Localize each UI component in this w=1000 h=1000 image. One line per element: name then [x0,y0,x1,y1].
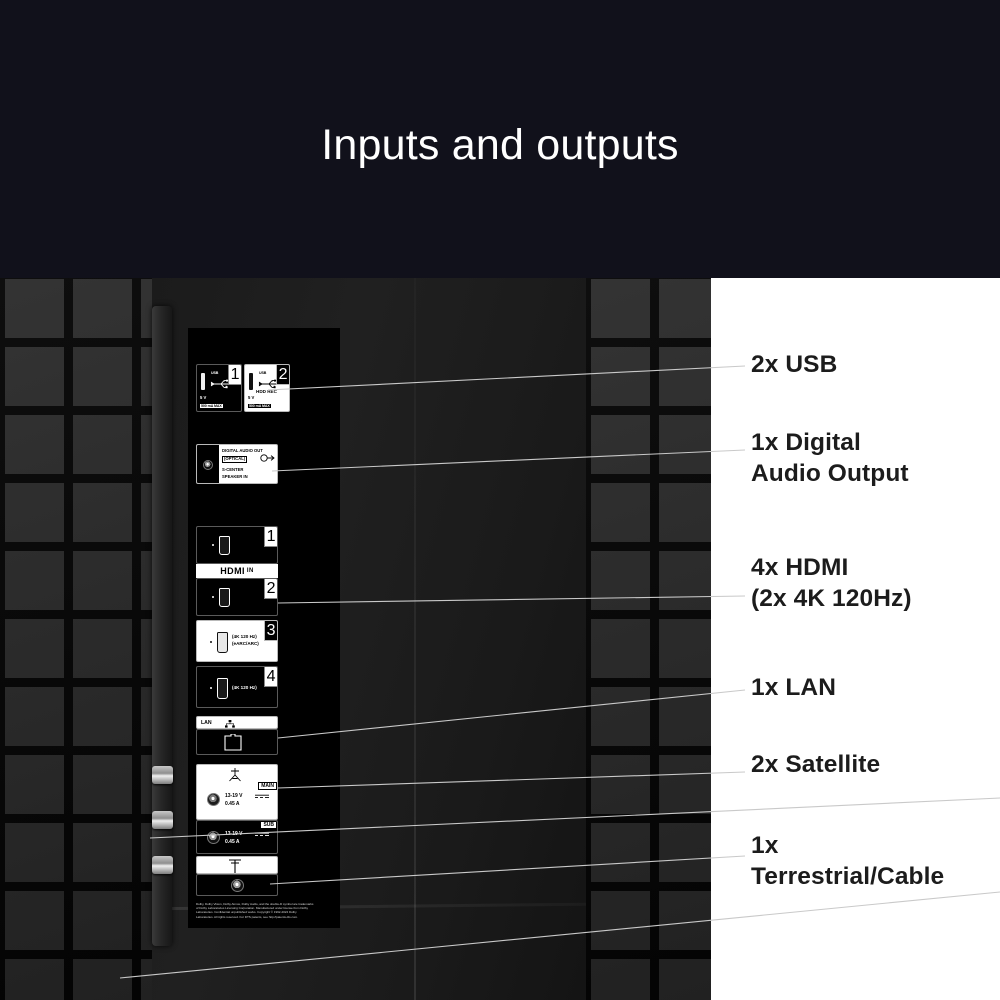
port-hdmi-1[interactable]: 1 [196,526,278,564]
digital-audio-out-label: DIGITAL AUDIO OUT [222,449,263,454]
usb-label: USB [259,371,266,375]
callout-satellite: 2x Satellite [751,750,880,781]
connector-panel: 1 USB 5 V 500 mA MAX 2 USB [188,328,340,928]
hdmi-dot-icon [210,641,212,643]
port-number-badge: 2 [264,579,277,599]
satellite-main-current: 0.45 A [225,801,240,807]
port-terrestrial-cable[interactable] [196,874,278,896]
port-number-badge: 1 [264,527,277,547]
legal-fine-print: Dolby, Dolby Vision, Dolby Atmos, Dolby … [196,902,314,919]
rj45-jack-icon [223,734,243,752]
port-number-badge: 4 [264,667,277,687]
cable-clip-strip [152,306,172,946]
usb-voltage: 5 V [248,396,254,401]
port-hdmi-3[interactable]: 3 (4K 120 Hz) (eARC/ARC) [196,620,278,662]
hdmi-connector-icon [219,536,230,555]
port-digital-audio-out[interactable]: DIGITAL AUDIO OUT (OPTICAL) S-CENTER SPE… [196,444,278,484]
tv-back-grid-left [0,278,152,1000]
network-icon [225,720,235,728]
hdmi-connector-icon [219,588,230,607]
callout-lan: 1x LAN [751,673,836,704]
callout-usb: 2x USB [751,350,837,381]
callout-terrestrial: 1x Terrestrial/Cable [751,831,944,892]
cable-clip [152,856,173,874]
usb-voltage: 5 V [200,396,206,401]
usb-current: 500 mA MAX [200,404,223,408]
optical-jack [203,460,213,470]
hdmi-connector-icon [217,678,228,699]
page-root: Inputs and outputs 1 USB [0,0,1000,1000]
usb-slot-icon [201,373,205,390]
page-title: Inputs and outputs [321,121,678,170]
tv-back-grid-right [586,278,712,1000]
callout-hdmi: 4x HDMI (2x 4K 120Hz) [751,553,912,614]
satellite-main-tag: MAIN [258,782,277,790]
tv-back-photo: 1 USB 5 V 500 mA MAX 2 USB [0,278,1000,1000]
hdmi-dot-icon [212,596,214,598]
header-band: Inputs and outputs [0,0,1000,278]
s-center-label: S-CENTER [222,468,243,473]
usb-hdd-rec-label: HDD REC [256,389,277,394]
hdmi-in-bar: HDMIIN [196,564,278,578]
callout-panel: 2x USB 1x Digital Audio Output 4x HDMI (… [711,278,1000,1000]
satellite-sub-group: SUB 13-19 V 0.45 A [196,820,278,854]
hdmi-dot-icon [210,687,212,689]
hdmi-connector-icon [217,632,228,653]
hdmi-4-spec: (4K 120 Hz) [232,685,257,692]
satellite-sub-volts: 13-19 V [225,831,243,837]
satellite-sub-jack[interactable] [207,831,220,844]
dc-symbol-icon [255,832,269,837]
port-number-badge: 3 [264,621,277,641]
speaker-in-label: SPEAKER IN [222,475,248,480]
lan-label: LAN [201,720,212,726]
terrestrial-coax-jack [231,879,244,892]
port-usb-2[interactable]: 2 USB HDD REC 5 V 500 mA MAX [244,364,290,412]
satellite-dish-icon [225,767,245,783]
callout-digital-audio: 1x Digital Audio Output [751,428,909,489]
terrestrial-icon-bar [196,856,278,874]
usb-slot-icon [249,373,253,390]
port-lan[interactable] [196,729,278,755]
usb-trident-icon [210,378,232,390]
usb-current: 500 mA MAX [248,404,271,408]
dc-symbol-icon [255,794,269,799]
hdmi-3-spec: (4K 120 Hz) (eARC/ARC) [232,634,259,648]
port-hdmi-2[interactable]: 2 [196,578,278,616]
satellite-sub-current: 0.45 A [225,839,240,845]
optical-out-arrow-icon [259,453,275,463]
satellite-group: MAIN 13-19 V 0.45 A [196,764,278,820]
hdmi-wordmark: HDMI [220,566,245,576]
port-hdmi-4[interactable]: 4 (4K 120 Hz) [196,666,278,708]
antenna-icon [225,859,245,873]
port-usb-1[interactable]: 1 USB 5 V 500 mA MAX [196,364,242,412]
lan-label-bar: LAN [196,716,278,729]
satellite-sub-tag: SUB [260,821,277,829]
optical-label: (OPTICAL) [222,456,247,463]
satellite-main-jack[interactable] [207,793,220,806]
cable-clip [152,811,173,829]
satellite-main-volts: 13-19 V [225,793,243,799]
hdmi-dot-icon [212,544,214,546]
hdmi-in-suffix: IN [247,568,254,574]
usb-label: USB [211,371,218,375]
cable-clip [152,766,173,784]
